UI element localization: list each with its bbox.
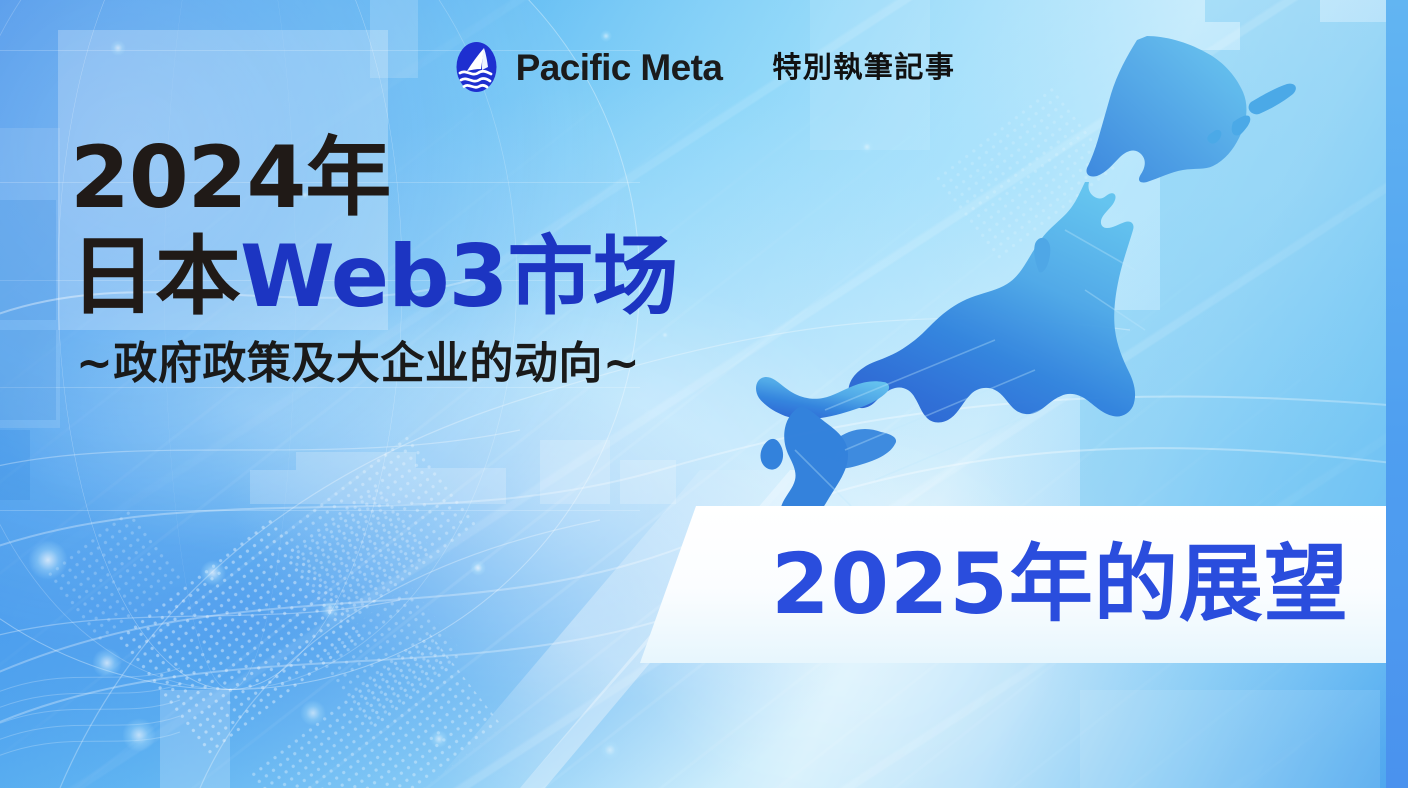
glow-orb (600, 740, 620, 760)
header-tagline: 特別執筆記事 (772, 53, 955, 82)
headline-subtitle: ~政府政策及大企业的动向~ (76, 340, 678, 388)
headline-block: 2024年 日本Web3市场 ~政府政策及大企业的动向~ (70, 132, 678, 388)
header-bar: Pacific Meta 特別執筆記事 (0, 40, 1408, 94)
map-goto-island (760, 439, 783, 470)
glow-orb (28, 540, 68, 580)
map-honshu (848, 182, 1135, 423)
pacific-meta-wave-logo (453, 40, 500, 94)
brand-name: Pacific Meta (516, 49, 723, 86)
glow-orb (430, 730, 448, 748)
glow-orb (92, 648, 122, 678)
glow-orb (200, 560, 226, 586)
headline-year: 2024年 (70, 132, 678, 225)
glow-orb (320, 600, 340, 620)
headline-main: 日本Web3市场 (70, 231, 678, 324)
right-edge-strip (1386, 0, 1408, 788)
headline-main-blue: Web3市场 (240, 227, 678, 327)
glow-orb (300, 700, 326, 726)
glow-orb (122, 718, 156, 752)
glow-orb (470, 560, 486, 576)
promo-banner-canvas: Pacific Meta 特別執筆記事 2024年 日本Web3市场 ~政府政策… (0, 0, 1408, 788)
map-chugoku (756, 377, 889, 419)
headline-main-dark: 日本 (70, 227, 240, 327)
outlook-banner-text: 2025年的展望 (736, 524, 1384, 644)
